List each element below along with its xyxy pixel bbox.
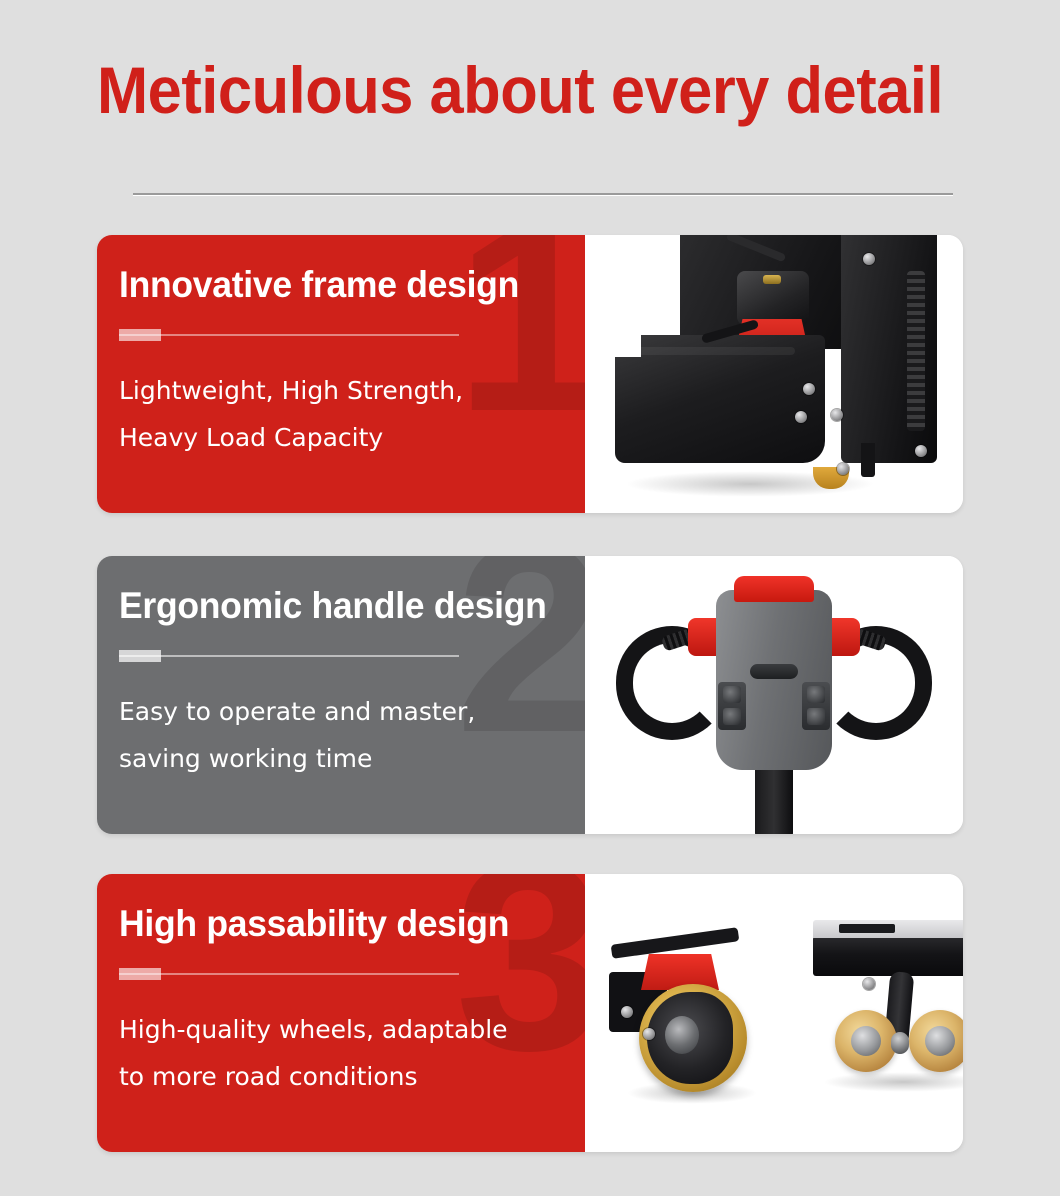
- divider-thin-line: [119, 334, 459, 336]
- feature-card-1-text-panel: 1 Innovative frame design Lightweight, H…: [97, 235, 585, 513]
- photo-shadow: [823, 1072, 963, 1092]
- divider-thick-segment: [119, 650, 161, 662]
- feature-card-2-body-line-2: saving working time: [119, 735, 555, 782]
- feature-card-3-photo: [585, 874, 963, 1152]
- wheels-photo: [585, 874, 963, 1152]
- fork-slot: [839, 924, 895, 933]
- feature-card-3-body-line-2: to more road conditions: [119, 1053, 555, 1100]
- feature-card-1-heading: Innovative frame design: [119, 263, 538, 307]
- page-title: Meticulous about every detail: [97, 52, 934, 128]
- tiller-handle-photo: [585, 556, 963, 834]
- bolt-icon: [795, 411, 807, 423]
- brass-fitting: [763, 275, 781, 284]
- drive-wheel-assembly: [603, 920, 793, 1110]
- divider-thick-segment: [119, 968, 161, 980]
- divider-thin-line: [119, 655, 459, 657]
- horn-button: [750, 664, 798, 679]
- tiller-head-body: [716, 590, 832, 770]
- feature-card-2-divider: [119, 650, 459, 662]
- bolt-icon: [837, 463, 849, 475]
- chassis-ribbed-rail: [907, 271, 925, 431]
- feature-card-3-divider: [119, 968, 459, 980]
- title-divider: [133, 193, 953, 196]
- infographic-page: Meticulous about every detail 1 Innovati…: [0, 0, 1060, 1196]
- chassis-photo: [585, 235, 963, 513]
- feature-card-1-body: Lightweight, High Strength, Heavy Load C…: [119, 367, 555, 461]
- chassis-notch: [615, 335, 641, 357]
- chassis-body: [615, 335, 825, 463]
- bolt-icon: [915, 445, 927, 457]
- roller-pin: [891, 1032, 909, 1054]
- chassis-foot: [861, 443, 875, 477]
- bolt-icon: [643, 1028, 655, 1040]
- control-buttons-right: [802, 682, 830, 730]
- feature-card-2-photo: [585, 556, 963, 834]
- feature-card-2: 2 Ergonomic handle design Easy to operat…: [97, 556, 963, 834]
- divider-thin-line: [119, 973, 459, 975]
- feature-card-3-body-line-1: High-quality wheels, adaptable: [119, 1006, 555, 1053]
- fork-roller-assembly: [813, 914, 963, 1104]
- tandem-roller-right: [909, 1010, 963, 1072]
- feature-card-1-body-line-2: Heavy Load Capacity: [119, 414, 555, 461]
- feature-card-1-body-line-1: Lightweight, High Strength,: [119, 367, 555, 414]
- hub-center: [665, 1016, 699, 1054]
- bolt-icon: [803, 383, 815, 395]
- bolt-icon: [863, 978, 875, 990]
- feature-card-1: 1 Innovative frame design Lightweight, H…: [97, 235, 963, 513]
- emergency-reverse-button: [734, 576, 814, 602]
- bolt-icon: [831, 409, 843, 421]
- feature-card-3-heading: High passability design: [119, 902, 538, 946]
- tandem-roller-left: [835, 1010, 897, 1072]
- feature-card-2-text-panel: 2 Ergonomic handle design Easy to operat…: [97, 556, 585, 834]
- control-buttons-left: [718, 682, 746, 730]
- feature-card-3-body: High-quality wheels, adaptable to more r…: [119, 1006, 555, 1100]
- bolt-icon: [863, 253, 875, 265]
- divider-thick-segment: [119, 329, 161, 341]
- feature-card-3-text-panel: 3 High passability design High-quality w…: [97, 874, 585, 1152]
- feature-card-2-body: Easy to operate and master, saving worki…: [119, 688, 555, 782]
- bolt-icon: [621, 1006, 633, 1018]
- feature-card-2-heading: Ergonomic handle design: [119, 584, 538, 628]
- feature-card-2-body-line-1: Easy to operate and master,: [119, 688, 555, 735]
- fork-tip: [813, 936, 963, 976]
- feature-card-3: 3 High passability design High-quality w…: [97, 874, 963, 1152]
- feature-card-1-divider: [119, 329, 459, 341]
- feature-card-1-photo: [585, 235, 963, 513]
